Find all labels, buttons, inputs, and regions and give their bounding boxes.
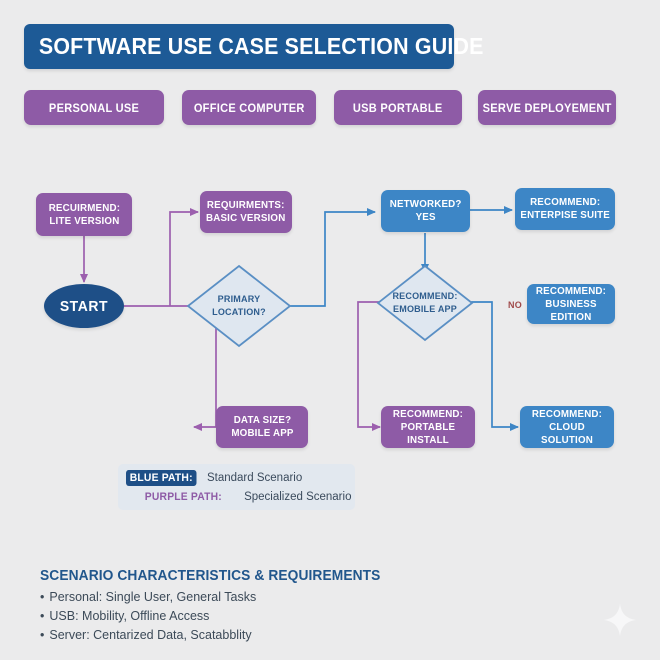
node-data-size-mobile-app[interactable]: DATA SIZE? MOBILE APP — [216, 406, 308, 448]
node-label: START — [60, 298, 108, 315]
node-label: DATA SIZE? MOBILE APP — [231, 414, 293, 440]
node-recommend-business-edition[interactable]: RECOMMEND: BUSINESS EDITION — [527, 284, 615, 324]
node-label: RECOMMEND: CLOUD SOLUTION — [523, 408, 610, 447]
node-recommend-enterpise-suite[interactable]: RECOMMEND: ENTERPISE SUITE — [515, 188, 615, 230]
flow-connectors — [0, 0, 660, 660]
node-recommend-emobile-app-decision[interactable]: RECOMMEND: EMOBILE APP — [376, 264, 474, 342]
node-networked-yes[interactable]: NETWORKED? YES — [381, 190, 470, 232]
node-recommend-portable-install[interactable]: RECOMMEND: PORTABLE INSTALL — [381, 406, 475, 448]
node-label: NETWORKED? YES — [390, 198, 462, 224]
node-recommend-cloud-solution[interactable]: RECOMMEND: CLOUD SOLUTION — [520, 406, 614, 448]
node-recommend-lite-version[interactable]: RECUIRMEND: LITE VERSION — [36, 193, 132, 236]
node-label: RECOMMEND: BUSINESS EDITION — [530, 285, 612, 324]
node-label: RECUIRMEND: LITE VERSION — [48, 202, 119, 228]
node-label: RECOMMEND: PORTABLE INSTALL — [384, 408, 471, 447]
node-requirments-basic-version[interactable]: REQUIRMENTS: BASIC VERSION — [200, 191, 292, 233]
node-label: PRIMARY LOCATION? — [189, 264, 290, 348]
node-label: REQUIRMENTS: BASIC VERSION — [206, 199, 285, 225]
infographic-canvas: SOFTWARE USE CASE SELECTION GUIDE PERSON… — [0, 0, 660, 660]
node-start[interactable]: START — [44, 284, 124, 328]
node-label: RECOMMEND: EMOBILE APP — [378, 264, 471, 342]
node-label: RECOMMEND: ENTERPISE SUITE — [520, 196, 610, 222]
node-primary-location-decision[interactable]: PRIMARY LOCATION? — [186, 264, 292, 348]
edge-label-no: NO — [508, 300, 522, 310]
